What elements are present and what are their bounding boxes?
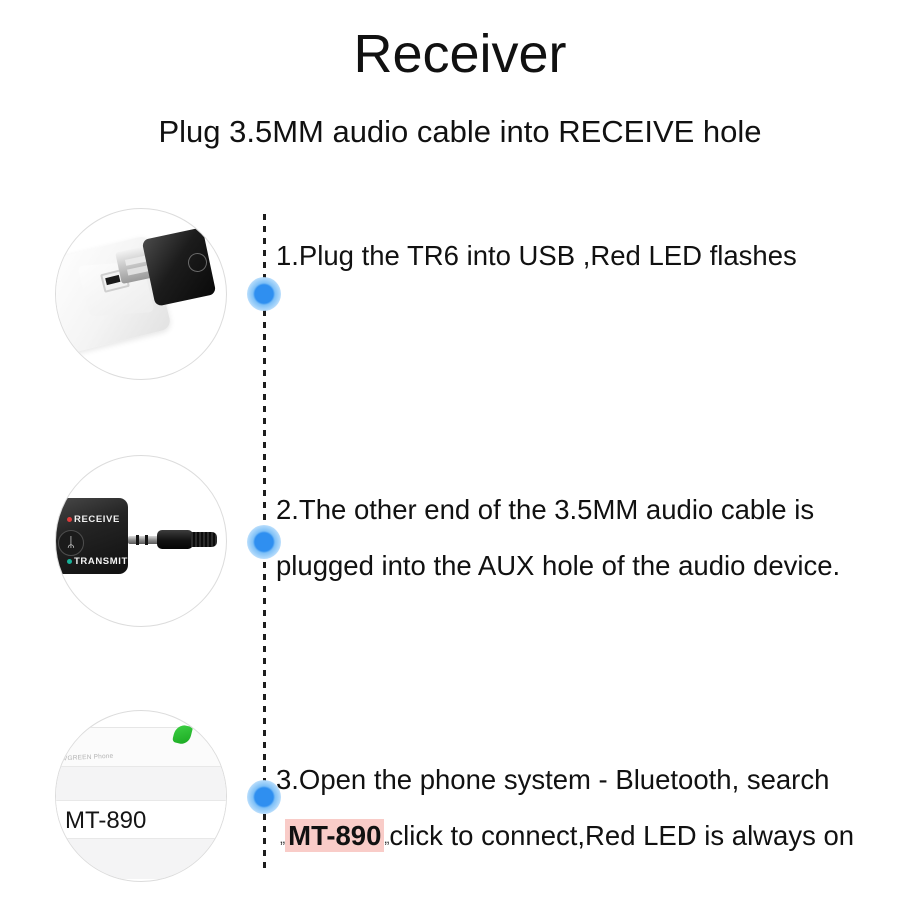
- audio-jack-barrel: [157, 530, 193, 549]
- audio-jack-ring-1: [136, 535, 139, 545]
- transmit-led-icon: [67, 559, 72, 564]
- phone-bluetooth-screen: VGREEN Phone MT-890: [55, 727, 227, 879]
- phone-list-row: [55, 766, 227, 801]
- audio-jack-tip: [128, 536, 158, 544]
- transmit-label: TRANSMIT: [74, 556, 128, 567]
- step-2-product-photo: RECEIVE TRANSMIT ᛦ: [55, 455, 227, 627]
- step-3-text: 3.Open the phone system - Bluetooth, sea…: [276, 752, 894, 867]
- phone-faint-device-name: VGREEN Phone: [63, 753, 114, 763]
- receive-label: RECEIVE: [74, 514, 120, 525]
- audio-jack-grip: [191, 532, 217, 547]
- audio-jack-ring-2: [145, 535, 148, 545]
- step-3-text-before: 3.Open the phone system - Bluetooth, sea…: [276, 764, 829, 795]
- phone-device-name-mt890: MT-890: [65, 807, 146, 835]
- step-1-product-photo: [55, 208, 227, 380]
- infographic-page: Receiver Plug 3.5MM audio cable into REC…: [0, 0, 920, 920]
- step-1-text: 1.Plug the TR6 into USB ,Red LED flashes: [276, 228, 894, 284]
- step-3-product-photo: VGREEN Phone MT-890: [55, 710, 227, 882]
- step-3-quote-mark: „: [276, 830, 285, 847]
- bluetooth-icon: ᛦ: [66, 535, 76, 550]
- step-3-device-highlight: MT-890: [285, 819, 384, 852]
- phone-list-row: [55, 838, 227, 879]
- step-2-text: 2.The other end of the 3.5MM audio cable…: [276, 482, 894, 594]
- step-3-text-after: click to connect,Red LED is always on: [389, 820, 854, 851]
- receive-led-icon: [67, 517, 72, 522]
- page-subtitle: Plug 3.5MM audio cable into RECEIVE hole: [0, 114, 920, 150]
- page-title: Receiver: [0, 26, 920, 83]
- bluetooth-button: ᛦ: [58, 530, 84, 556]
